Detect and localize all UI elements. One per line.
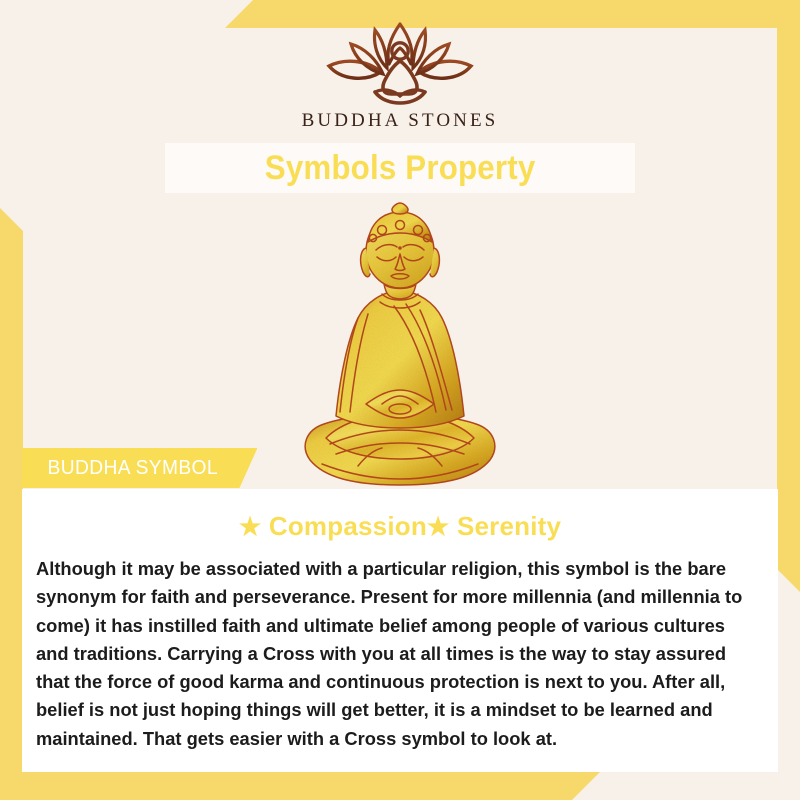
subtitle-word-compassion: Compassion <box>261 511 426 541</box>
section-badge-label: BUDDHA SYMBOL <box>48 457 218 480</box>
title-band: Symbols Property <box>165 143 635 193</box>
brand-header: BUDDHA STONES <box>0 18 800 132</box>
brand-wordmark: BUDDHA STONES <box>0 110 800 132</box>
star-icon-2: ★ <box>427 513 450 541</box>
content-subtitle: ★ Compassion★ Serenity <box>22 511 778 542</box>
lotus-meditation-icon <box>315 18 485 106</box>
subtitle-word-serenity: Serenity <box>450 511 562 541</box>
section-badge: BUDDHA SYMBOL <box>22 448 257 488</box>
infographic-poster: BUDDHA STONES Symbols Property <box>0 0 800 800</box>
star-icon-1: ★ <box>239 513 262 541</box>
page-title: Symbols Property <box>265 149 536 188</box>
golden-buddha-statue-illustration <box>270 198 530 498</box>
decorative-frame-bottom <box>0 772 600 800</box>
content-paragraph: Although it may be associated with a par… <box>36 555 753 753</box>
content-panel: ★ Compassion★ Serenity Although it may b… <box>22 489 778 772</box>
